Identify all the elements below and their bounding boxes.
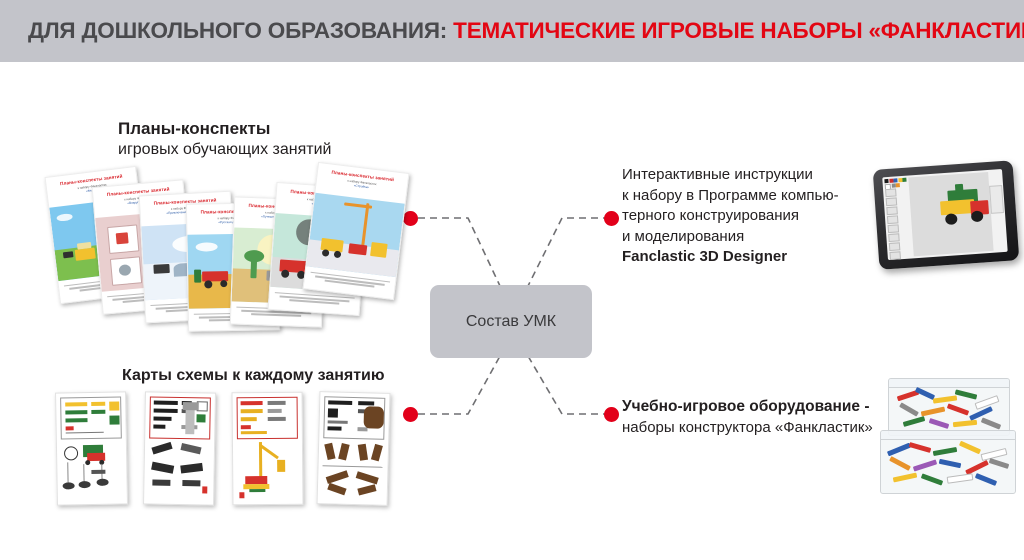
connector-dot-bottom-right: [604, 407, 619, 422]
scheme-card-diagram: [237, 442, 298, 499]
slide-canvas: ДЛЯ ДОШКОЛЬНОГО ОБРАЗОВАНИЯ: ТЕМАТИЧЕСКИ…: [0, 0, 1024, 560]
scheme-card-parts-table: [60, 396, 122, 439]
storage-box-upper: [888, 378, 1010, 436]
label-interactive-line5: Fanclastic 3D Designer: [622, 247, 839, 268]
connector-dot-bottom-left: [403, 407, 418, 422]
plan-card: Планы-конспекты занятий к набору Фанклас…: [303, 162, 410, 300]
label-interactive-line2: к набору в Программе компью-: [622, 186, 839, 207]
scheme-card-parts-table: [237, 397, 298, 440]
scheme-card: [143, 391, 216, 505]
tablet-tool-palette[interactable]: [885, 188, 912, 257]
center-node: Состав УМК: [430, 285, 592, 358]
label-equipment-line2: наборы конструктора «Фанкластик»: [622, 417, 873, 438]
page-title-red: ТЕМАТИЧЕСКИЕ ИГРОВЫЕ НАБОРЫ «ФАНКЛАСТИК»: [453, 18, 1024, 43]
scheme-card: [317, 391, 391, 506]
label-interactive-line1: Интерактивные инструкции: [622, 165, 839, 186]
scheme-card-parts-table: [149, 396, 211, 439]
label-interactive-line3: терного конструирования: [622, 206, 839, 227]
tablet-side-panel[interactable]: [989, 185, 1004, 214]
plan-card-art: [306, 193, 404, 277]
connector-bottom-right: [528, 356, 610, 414]
connector-top-right: [528, 218, 610, 286]
storage-box-lid: [880, 430, 1016, 440]
tablet-color-palette[interactable]: [884, 178, 909, 189]
tablet-canvas: [908, 172, 993, 256]
label-equipment-line1: Учебно-игровое оборудование -: [622, 396, 873, 417]
label-scheme-cards-line1: Карты схемы к каждому занятию: [122, 366, 385, 385]
tablet-device: [873, 160, 1020, 270]
tablet-screen: [882, 169, 1007, 260]
center-node-label: Состав УМК: [466, 313, 556, 331]
plan-card-stack: Планы-конспекты занятий к набору Фанклас…: [0, 0, 420, 360]
label-interactive-instructions: Интерактивные инструкции к набору в Прог…: [622, 165, 839, 268]
connector-bottom-left: [418, 356, 500, 414]
scheme-card: [232, 392, 304, 506]
scheme-card: [55, 391, 128, 505]
connector-dot-top-right: [604, 211, 619, 226]
connector-top-left: [418, 218, 500, 286]
label-equipment: Учебно-игровое оборудование - наборы кон…: [622, 396, 873, 438]
scheme-card-diagram: [61, 441, 123, 498]
storage-boxes: [878, 378, 1016, 498]
label-scheme-cards: Карты схемы к каждому занятию: [122, 366, 385, 385]
scheme-card-diagram: [148, 441, 210, 498]
storage-box-lid: [888, 378, 1010, 388]
storage-box-lower: [880, 430, 1016, 494]
label-interactive-line4: и моделирования: [622, 227, 839, 248]
scheme-card-diagram: [322, 441, 384, 499]
